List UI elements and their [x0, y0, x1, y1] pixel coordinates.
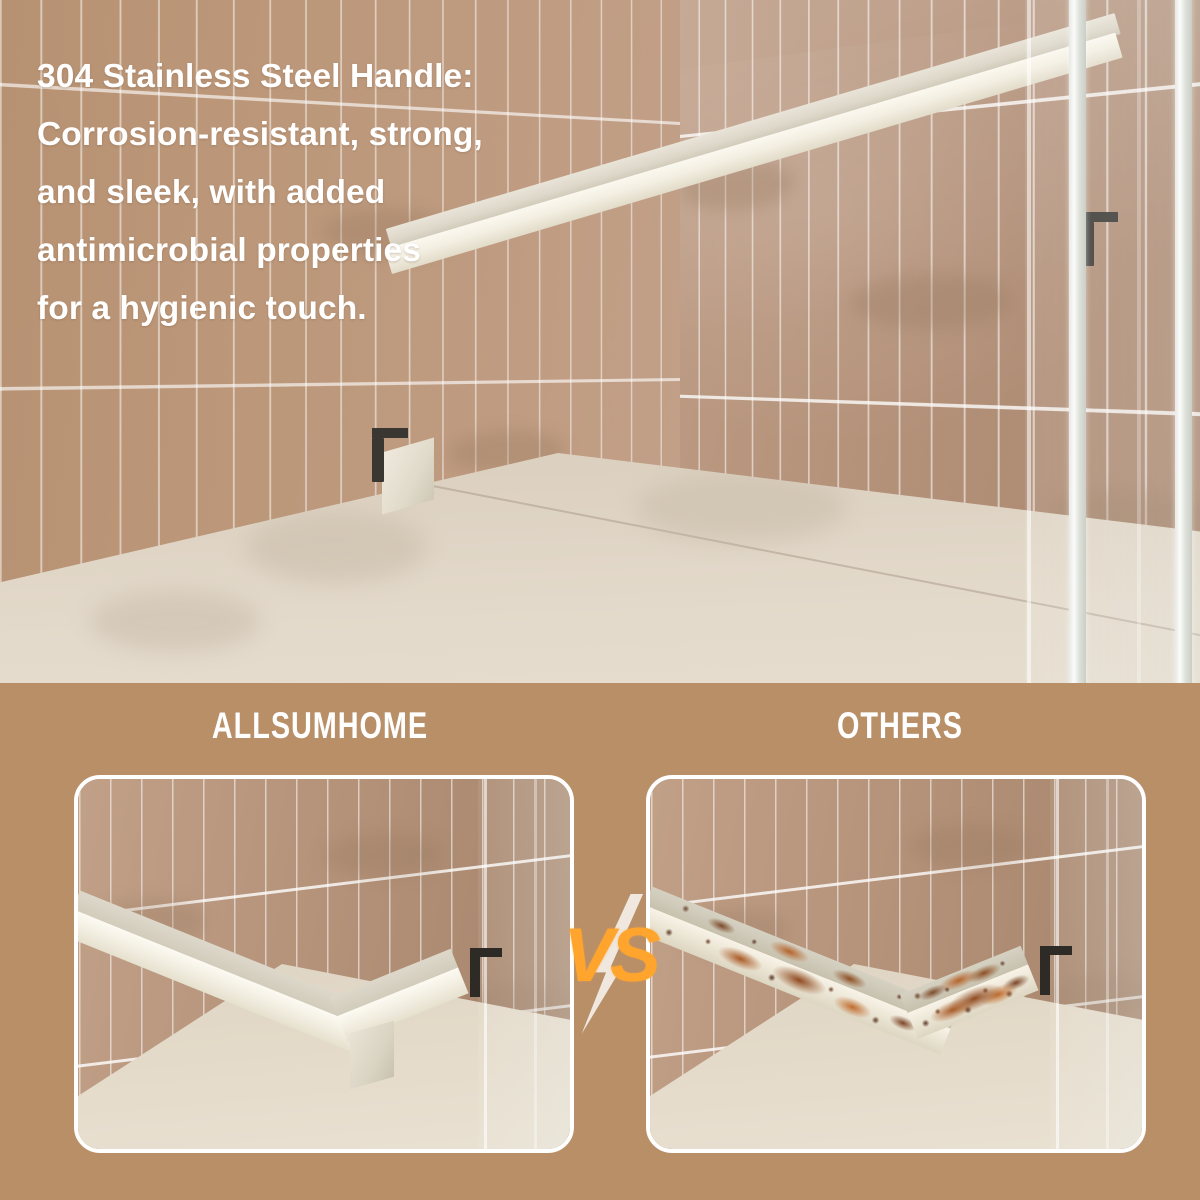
versus-badge: VS — [545, 898, 675, 1030]
headline-line: for a hygienic touch. — [37, 280, 597, 338]
comparison-titles: ALLSUMHOME OTHERS — [0, 705, 1200, 757]
headline-line: antimicrobial properties — [37, 222, 597, 280]
handle-end-cap — [382, 438, 434, 515]
comparison-title-allsumhome: ALLSUMHOME — [117, 705, 523, 747]
comparison-title-others: OTHERS — [697, 705, 1103, 747]
comparison-card-allsumhome — [74, 775, 574, 1153]
glass-door-panel — [1025, 0, 1200, 683]
wall-bracket-icon — [1040, 955, 1050, 995]
versus-label: VS — [545, 908, 675, 1004]
comparison-card-others — [646, 775, 1146, 1153]
page-title: 304 Stainless Steel Handle: Corrosion-re… — [37, 48, 597, 338]
wall-bracket-icon — [470, 957, 480, 997]
headline-line: Corrosion-resistant, strong, — [37, 106, 597, 164]
hero-section: 304 Stainless Steel Handle: Corrosion-re… — [0, 0, 1200, 683]
product-infographic: 304 Stainless Steel Handle: Corrosion-re… — [0, 0, 1200, 1200]
wall-bracket-icon — [372, 438, 384, 482]
headline-line: 304 Stainless Steel Handle: — [37, 48, 597, 106]
headline-line: and sleek, with added — [37, 164, 597, 222]
mini-glass-panel — [1050, 779, 1142, 1149]
